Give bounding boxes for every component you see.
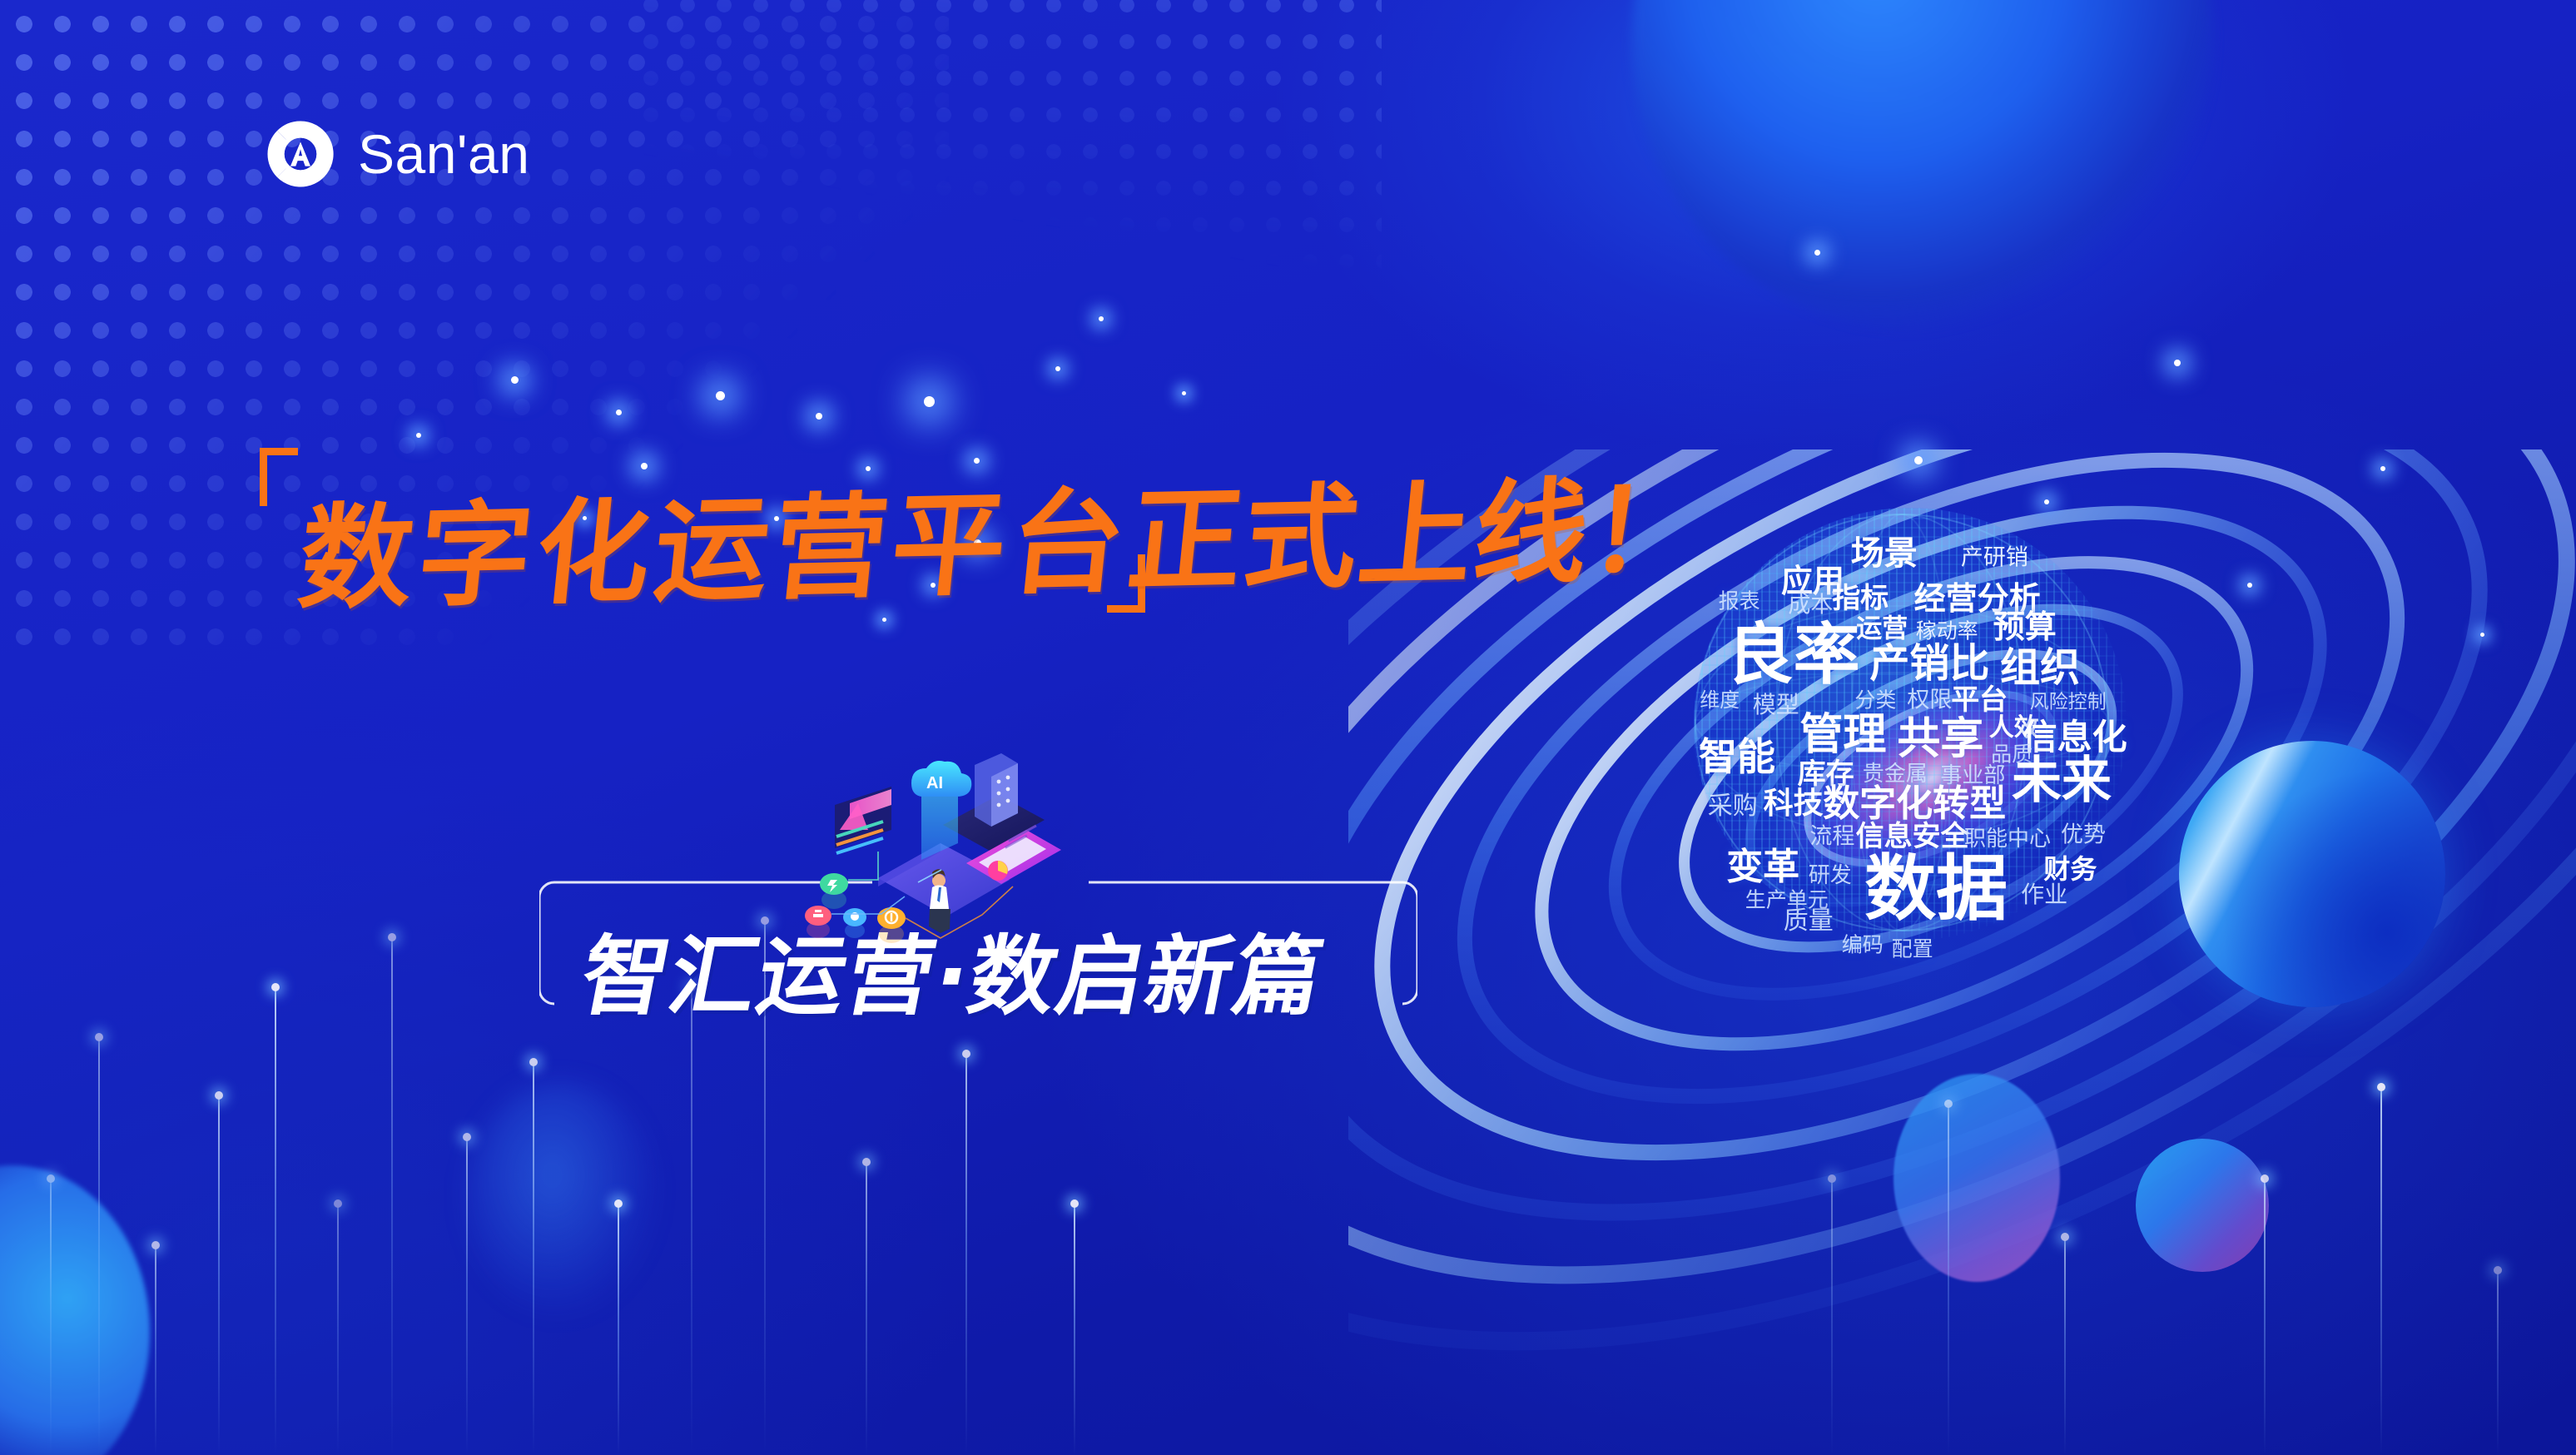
word-cloud-term: 指标 xyxy=(1832,584,1889,613)
light-streak xyxy=(618,1205,619,1455)
word-cloud-term: 产研销 xyxy=(1961,546,2028,569)
word-cloud-term: 研发 xyxy=(1809,865,1852,886)
word-cloud-term: 编码 xyxy=(1842,935,1884,956)
light-streak xyxy=(2064,1239,2066,1455)
sparkle-dot xyxy=(924,396,935,407)
light-streak xyxy=(391,939,393,1455)
word-cloud-term: 权限 xyxy=(1907,689,1952,712)
planet-faint-glow xyxy=(466,1082,658,1315)
word-cloud-term: 科技 xyxy=(1764,789,1824,819)
light-streak xyxy=(1831,1180,1833,1455)
sparkle-dot xyxy=(511,376,519,384)
word-cloud-term: 场景 xyxy=(1851,537,1918,570)
word-cloud-term: 组织 xyxy=(2000,648,2080,688)
word-cloud-term: 成本 xyxy=(1788,594,1833,617)
sparkle-dot xyxy=(2247,583,2252,588)
banner-canvas: San'an 数字化运营平台正式上线！ 智汇运营·数启新篇 xyxy=(0,0,2576,1455)
sparkle-dot xyxy=(616,410,622,415)
word-cloud-term: 财务 xyxy=(2043,856,2097,882)
word-cloud-term: 作业 xyxy=(2021,883,2067,906)
planet-large-blue xyxy=(2179,741,2445,1007)
word-cloud-term: 产销比 xyxy=(1869,643,1989,683)
sparkle-dot xyxy=(816,413,822,420)
headline-rest: 正式上线！ xyxy=(1122,464,1711,608)
word-cloud-term: 质量 xyxy=(1784,909,1834,934)
isometric-illustration-svg: AI xyxy=(795,753,1070,961)
headline-text: 数字化运营平台正式上线！ xyxy=(294,474,1710,616)
brand-name: San'an xyxy=(358,127,529,181)
sparkle-dot xyxy=(716,391,725,400)
sparkle-dot xyxy=(2174,360,2181,366)
svg-text:AI: AI xyxy=(926,774,943,792)
word-cloud-term: 数据 xyxy=(1864,853,2008,925)
word-cloud-term: 报表 xyxy=(1719,590,1760,611)
headline: 数字化运营平台正式上线！ xyxy=(250,466,1715,624)
light-streak xyxy=(155,1247,156,1455)
light-streak xyxy=(2497,1272,2499,1455)
light-streak xyxy=(2380,1089,2382,1455)
light-streak xyxy=(1948,1105,1949,1455)
planet-mid-violet xyxy=(1894,1074,2060,1282)
word-cloud-term: 信息化 xyxy=(2023,720,2127,755)
planet-left-edge xyxy=(0,1165,150,1455)
word-cloud-globe: 场景产研销应用报表成本指标经营分析运营稼动率预算良率产销比组织维度模型分类权限平… xyxy=(1694,508,2127,941)
planet-small-violet xyxy=(2136,1139,2269,1272)
sparkle-dot xyxy=(1914,456,1923,464)
sparkle-dot xyxy=(974,458,980,464)
planet-top-right xyxy=(1631,0,2214,333)
light-streak xyxy=(275,989,276,1455)
word-cloud-term: 未来 xyxy=(2012,756,2112,806)
word-cloud-term: 维度 xyxy=(1700,690,1740,710)
light-streak xyxy=(337,1205,339,1455)
word-cloud-term: 配置 xyxy=(1892,939,1933,960)
halftone-dot-pattern-secondary xyxy=(633,0,1382,300)
light-streak xyxy=(50,1180,52,1455)
word-cloud-term: 贵金属 xyxy=(1863,763,1928,785)
light-streak xyxy=(965,1055,967,1455)
sparkle-dot xyxy=(1099,316,1104,321)
light-streak xyxy=(2264,1180,2266,1455)
word-cloud-term: 优势 xyxy=(2061,823,2106,846)
light-streak xyxy=(218,1097,220,1455)
word-cloud-term: 平台 xyxy=(1951,686,2008,714)
sparkle-dot xyxy=(416,433,421,438)
word-cloud-term: 良率 xyxy=(1727,622,1860,688)
word-cloud-term: 变革 xyxy=(1726,849,1799,886)
isometric-illustration: AI xyxy=(795,753,1070,961)
open-bracket-mark xyxy=(260,448,298,506)
word-cloud-term: 模型 xyxy=(1753,693,1799,717)
word-cloud-term: 采购 xyxy=(1708,794,1758,819)
headline-quoted: 数字化运营平台 xyxy=(293,477,1135,626)
word-cloud-term: 流程 xyxy=(1809,826,1854,848)
sparkle-dot xyxy=(2380,466,2385,471)
word-cloud-term: 管理 xyxy=(1799,713,1886,757)
word-cloud-term: 预算 xyxy=(1993,611,2057,643)
word-cloud-term: 数字化转型 xyxy=(1823,786,2006,822)
word-cloud-term: 智能 xyxy=(1699,737,1775,776)
word-cloud-term: 分类 xyxy=(1854,690,1896,711)
word-cloud-term: 运营 xyxy=(1856,616,1908,642)
light-streak xyxy=(98,1039,100,1455)
light-streak xyxy=(533,1064,534,1455)
brand-logo[interactable]: San'an xyxy=(265,118,529,190)
word-cloud-term: 风险控制 xyxy=(2030,693,2107,713)
word-cloud-term: 稼动率 xyxy=(1916,621,1978,642)
word-cloud-term: 共享 xyxy=(1897,718,1983,761)
light-streak xyxy=(866,1164,867,1455)
sparkle-dot xyxy=(2480,633,2484,637)
light-streak xyxy=(691,989,692,1455)
sparkle-dot xyxy=(1182,391,1186,395)
sanan-logo-mark-icon xyxy=(265,118,336,190)
light-streak xyxy=(466,1139,468,1455)
light-streak xyxy=(1074,1205,1075,1455)
sparkle-dot xyxy=(1814,250,1820,256)
sparkle-dot xyxy=(1055,366,1060,371)
sparkle-dot xyxy=(2044,499,2049,504)
